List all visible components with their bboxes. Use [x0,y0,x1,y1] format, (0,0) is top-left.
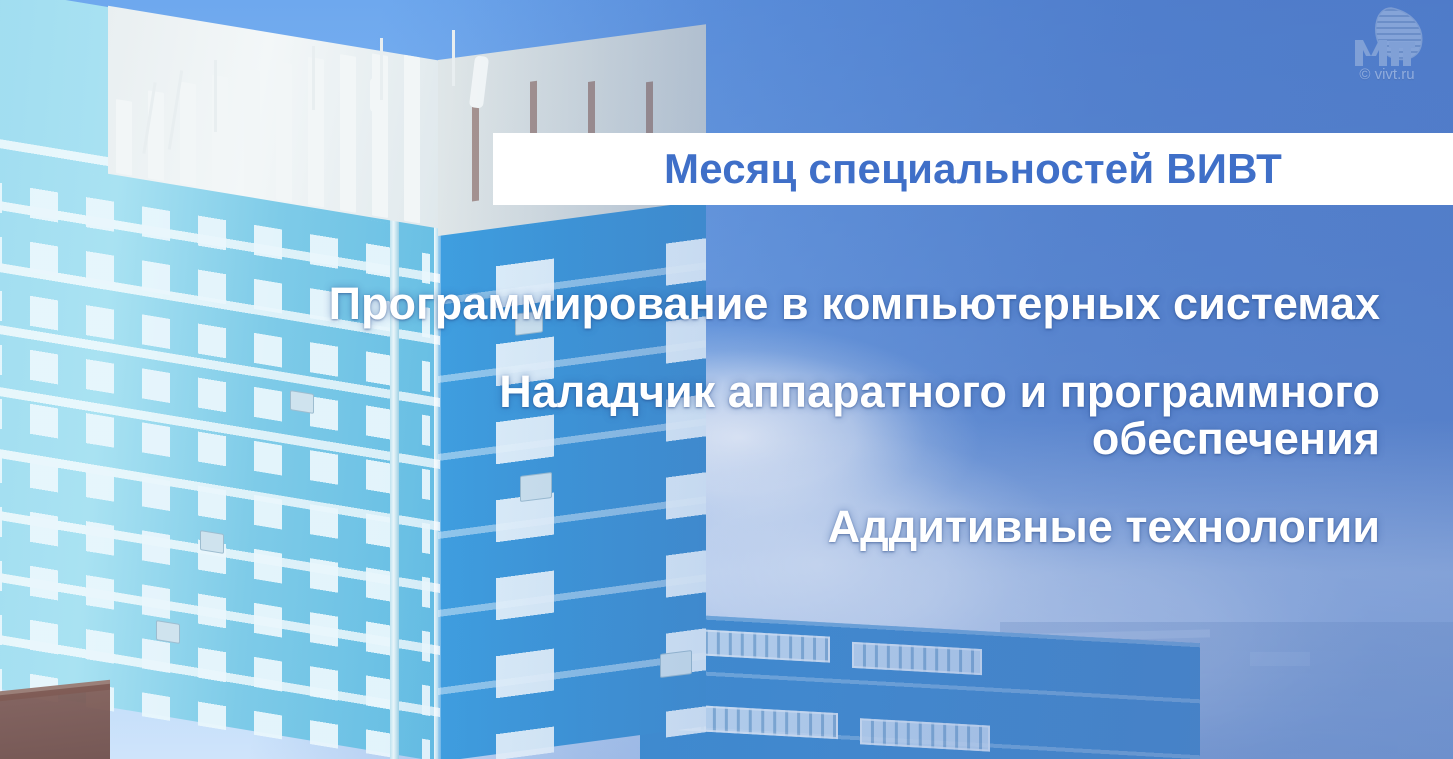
specialty-item-1: Программирование в компьютерных системах [260,280,1380,328]
watermark: © vivt.ru [1333,6,1441,102]
specialty-list: Программирование в компьютерных системах… [260,280,1380,551]
vivt-logo-icon [1333,6,1441,68]
title-banner: Месяц специальностей ВИВТ [493,133,1453,205]
specialty-item-3: Аддитивные технологии [260,503,1380,551]
page-title: Месяц специальностей ВИВТ [664,145,1282,193]
watermark-credit: © vivt.ru [1333,66,1441,83]
specialty-item-2: Наладчик аппаратного и программного обес… [260,368,1380,463]
poster-canvas: Месяц специальностей ВИВТ Программирован… [0,0,1453,759]
